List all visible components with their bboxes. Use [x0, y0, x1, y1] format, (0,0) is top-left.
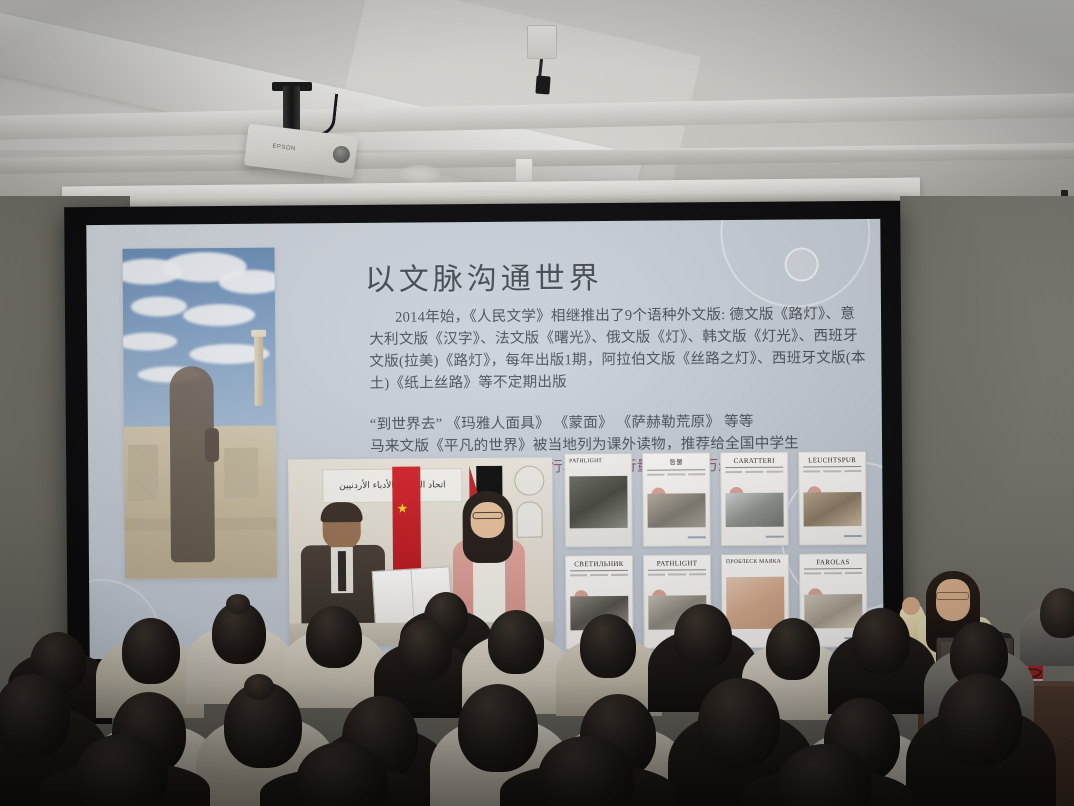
divider [804, 568, 862, 569]
audience-member [488, 610, 544, 674]
magazine-title: PATHLIGHT [648, 559, 706, 569]
audience-member [306, 606, 362, 668]
magazine-footer [804, 532, 862, 540]
audience-member [1040, 588, 1074, 638]
audience-member [0, 674, 70, 758]
magazine-cover: LEUCHTSPUR [798, 451, 867, 546]
audience [0, 596, 1074, 806]
presentation-slide: 以文脉沟通世界 2014年始，《人民文学》相继推出了9个语种外文版: 德文版《路… [86, 219, 883, 659]
audience-member [766, 618, 820, 680]
magazine-title: FAROLAS [804, 558, 862, 568]
magazine-meta [804, 572, 862, 574]
photo-ruins-person [169, 366, 215, 562]
ruin-block [224, 448, 258, 498]
magazine-meta [647, 473, 705, 475]
man-tie [338, 551, 346, 591]
flag-china-icon [392, 467, 421, 583]
man-hair [320, 502, 362, 522]
magazine-title: ПРОБЛЕСК МАЯКА [726, 559, 784, 567]
divider [648, 569, 706, 570]
woman-glasses-icon [473, 512, 503, 519]
magazine-cover: PATHLIGHT [564, 453, 633, 548]
divider [647, 469, 705, 470]
cloud [219, 270, 277, 295]
magazine-cover-image [725, 493, 783, 527]
divider [725, 467, 783, 468]
slide-paragraph-1: 2014年始，《人民文学》相继推出了9个语种外文版: 德文版《路灯》、意大利文版… [369, 303, 870, 395]
magazine-cover: 등불 [642, 452, 711, 547]
lecture-hall-scene: EPSON 以文脉沟通世界 2014年始，《人民文学》相继推出了9个语种外文版:… [0, 0, 1074, 806]
audience-member [122, 618, 180, 684]
audience-member [938, 674, 1022, 766]
roman-column [254, 336, 264, 406]
magazine-title: CARATTERI [725, 457, 783, 467]
divider [803, 466, 861, 467]
audience-member [76, 734, 168, 806]
magazine-title: 등불 [647, 457, 705, 469]
magazine-footer [726, 533, 784, 541]
projector-brand-label: EPSON [272, 143, 296, 152]
wall-box-upper [527, 25, 557, 59]
divider [570, 570, 628, 571]
hair-bun [226, 594, 250, 614]
audience-member [698, 678, 780, 768]
projector-lens-icon [332, 145, 351, 164]
audience-member [580, 614, 636, 678]
magazine-cover-image [569, 476, 627, 528]
projector-mount-pole [283, 86, 300, 132]
motion-sensor-icon [535, 76, 550, 95]
magazine-meta [725, 471, 783, 473]
hair-bun [244, 674, 274, 700]
magazine-meta [648, 573, 706, 575]
ruin-block [128, 445, 158, 501]
magazine-cover: CARATTERI [720, 452, 789, 547]
audience-member [674, 604, 732, 670]
magazine-footer [648, 533, 706, 541]
magazine-meta [570, 574, 628, 576]
magazine-cover-image [803, 492, 861, 526]
magazine-cover-image [647, 493, 705, 527]
magazine-title: LEUCHTSPUR [803, 456, 861, 466]
wall-box-lower [515, 158, 533, 182]
audience-member [852, 608, 910, 674]
audience-member [398, 620, 452, 680]
woman-face [470, 502, 504, 538]
shoulder-bag [205, 428, 219, 462]
magazine-meta [803, 470, 861, 472]
slide-photo-ruins [122, 248, 277, 579]
organization-seal-icon [514, 466, 544, 496]
magazine-title: СВЕТИЛЬНИК [570, 560, 628, 570]
magazine-title: PATHLIGHT [569, 458, 627, 466]
audience-member [458, 684, 538, 772]
